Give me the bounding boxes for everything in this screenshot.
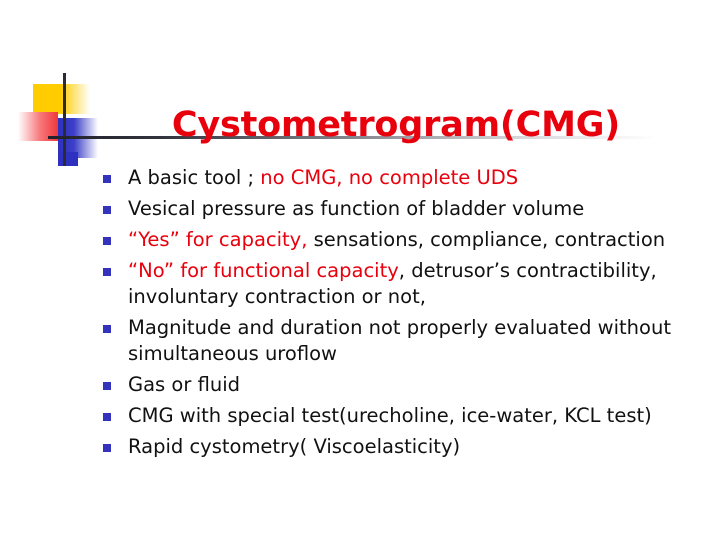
bullet-square-icon <box>103 325 111 333</box>
list-item-text: sensations, compliance, contraction <box>307 228 665 251</box>
bullet-square-icon <box>103 175 111 183</box>
list-item: Gas or fluid <box>96 372 712 398</box>
bullet-square-icon <box>103 382 111 390</box>
list-item: Magnitude and duration not properly eval… <box>96 315 712 367</box>
list-item: Rapid cystometry( Viscoelasticity) <box>96 434 712 460</box>
vertical-rule-icon <box>63 73 66 166</box>
slide-header: Cystometrogram(CMG) <box>0 0 720 170</box>
list-item-text: Magnitude and duration not properly eval… <box>128 316 671 365</box>
yellow-square-icon <box>33 84 90 114</box>
list-item: “No” for functional capacity, detrusor’s… <box>96 258 712 310</box>
list-item-text: A basic tool ; <box>128 166 260 189</box>
list-item-text: “Yes” for capacity, <box>128 228 307 251</box>
bullet-square-icon <box>103 413 111 421</box>
bullet-square-icon <box>103 206 111 214</box>
list-item-text: “No” for functional capacity <box>128 259 399 282</box>
list-item-text: CMG with special test(urecholine, ice-wa… <box>128 404 652 427</box>
bullet-list: A basic tool ; no CMG, no complete UDSVe… <box>96 165 712 465</box>
bullet-square-icon <box>103 237 111 245</box>
list-item: Vesical pressure as function of bladder … <box>96 196 712 222</box>
blue-square-lower-icon <box>58 152 78 166</box>
bullet-square-icon <box>103 444 111 452</box>
list-item-text: no CMG, no complete UDS <box>260 166 518 189</box>
list-item-text: Vesical pressure as function of bladder … <box>128 197 584 220</box>
list-item-text: Gas or fluid <box>128 373 240 396</box>
bullet-square-icon <box>103 268 111 276</box>
list-item-text: Rapid cystometry( Viscoelasticity) <box>128 435 460 458</box>
list-item: CMG with special test(urecholine, ice-wa… <box>96 403 712 429</box>
list-item: “Yes” for capacity, sensations, complian… <box>96 227 712 253</box>
page-title: Cystometrogram(CMG) <box>96 103 696 147</box>
list-item: A basic tool ; no CMG, no complete UDS <box>96 165 712 191</box>
